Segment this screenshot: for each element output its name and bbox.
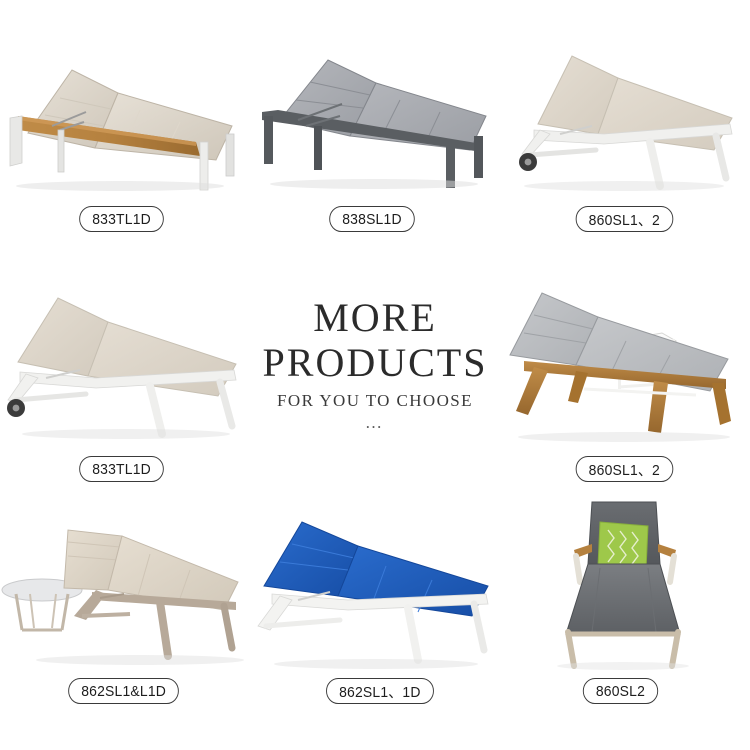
lounger-illustration-1	[0, 38, 250, 193]
product-label-3[interactable]: 860SL1、2	[576, 206, 673, 232]
product-label-5[interactable]: 860SL1、2	[576, 456, 673, 482]
promo-line-3: FOR YOU TO CHOOSE	[250, 386, 500, 416]
product-label-8[interactable]: 860SL2	[583, 678, 658, 704]
product-label-1-text: 833TL1D	[92, 211, 151, 228]
lounger-illustration-8	[500, 494, 750, 670]
product-label-1[interactable]: 833TL1D	[79, 206, 164, 232]
lounger-illustration-2	[250, 38, 500, 193]
product-image-833TL1D-wheels[interactable]	[0, 288, 260, 443]
product-label-2-text: 838SL1D	[342, 211, 401, 228]
product-image-862SL1-1D[interactable]	[250, 508, 500, 670]
lounger-illustration-4	[0, 288, 260, 443]
lounger-illustration-7	[250, 508, 500, 670]
product-label-7[interactable]: 862SL1、1D	[326, 678, 434, 704]
lounger-illustration-3	[500, 38, 750, 193]
product-image-862SL1-L1D[interactable]	[0, 498, 260, 670]
product-image-833TL1D-teak[interactable]	[0, 38, 250, 193]
product-label-8-text: 860SL2	[596, 683, 645, 700]
promo-line-4: …	[250, 416, 500, 430]
product-label-2[interactable]: 838SL1D	[329, 206, 415, 232]
product-label-6-text: 862SL1&L1D	[81, 683, 166, 700]
product-image-860SL2[interactable]	[500, 494, 750, 670]
product-label-4[interactable]: 833TL1D	[79, 456, 164, 482]
product-catalog-sheet: 833TL1D	[0, 0, 750, 750]
product-label-6[interactable]: 862SL1&L1D	[68, 678, 179, 704]
promo-text-block: MORE PRODUCTS FOR YOU TO CHOOSE …	[250, 296, 500, 430]
product-label-5-text: 860SL1、2	[589, 459, 660, 480]
product-label-3-text: 860SL1、2	[589, 209, 660, 230]
lounger-illustration-5	[498, 283, 750, 445]
product-image-860SL1-2-teak[interactable]	[498, 283, 750, 445]
product-label-7-text: 862SL1、1D	[339, 681, 421, 702]
product-grid: 833TL1D	[0, 0, 750, 750]
promo-line-1: MORE	[250, 296, 500, 340]
product-image-860SL1-2[interactable]	[500, 38, 750, 193]
lounger-illustration-6	[0, 498, 260, 670]
product-label-4-text: 833TL1D	[92, 461, 151, 478]
promo-line-2: PRODUCTS	[250, 340, 500, 386]
product-image-838SL1D[interactable]	[250, 38, 500, 193]
